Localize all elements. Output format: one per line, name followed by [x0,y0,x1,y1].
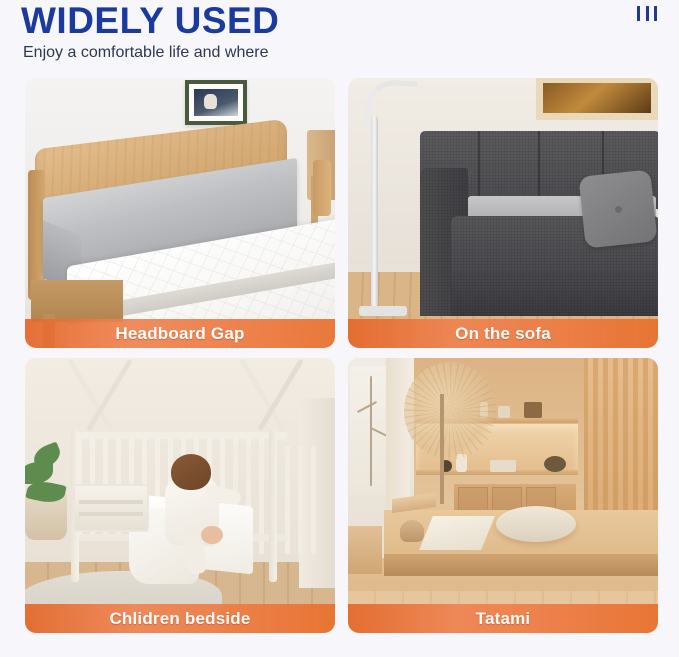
image-gallery-grid: Headboard Gap On the so [25,78,658,633]
card-caption-text: Tatami [476,609,531,629]
sofa-base [451,270,658,316]
shelf-books [524,402,542,418]
scene-living-room-sofa [348,78,658,348]
framed-artwork [543,83,651,113]
page-header: WIDELY USED Enjoy a comfortable life and… [0,0,679,78]
niche-flowers [544,456,566,472]
mural-branch [370,376,372,486]
dried-tree-canopy [404,362,496,460]
mural-branch [357,401,377,413]
gallery-card-headboard-gap[interactable]: Headboard Gap [25,78,335,348]
gallery-card-tatami[interactable]: Tatami [348,358,658,633]
shelf-box [498,406,510,418]
bar-1 [637,6,640,21]
child-head [171,454,211,490]
niche-tray [490,460,516,472]
three-vertical-bars-icon[interactable] [637,6,657,21]
scene-tatami-room [348,358,658,633]
dried-tree-trunk [440,394,444,504]
card-caption-text: On the sofa [455,324,551,344]
throw-pillow [578,169,657,248]
floor-lamp-base [359,306,407,316]
bed-post-right [313,160,331,216]
page-subtitle: Enjoy a comfortable life and where [23,43,268,63]
bar-3 [654,6,657,21]
card-caption-bar: Chlidren bedside [25,604,335,633]
branch-texture [404,362,496,460]
crib-post-right [269,430,277,582]
crib-gate-panel [73,484,149,532]
fabric-texture [451,270,658,316]
gallery-card-on-the-sofa[interactable]: On the sofa [348,78,658,348]
floor-lamp-pole [371,116,378,308]
platform-front-face [384,554,658,576]
scene-nursery-crib [25,358,335,633]
card-caption-bar: Headboard Gap [25,319,335,348]
page-title: WIDELY USED [21,1,279,41]
gallery-card-children-bedside[interactable]: Chlidren bedside [25,358,335,633]
round-floor-cushion [496,506,576,542]
small-stool [400,520,424,542]
child-foot [201,526,223,544]
card-caption-text: Chlidren bedside [109,609,250,629]
bar-2 [646,6,649,21]
low-bench [348,526,382,574]
card-caption-bar: Tatami [348,604,658,633]
card-caption-text: Headboard Gap [115,324,244,344]
framed-artwork [194,89,238,116]
wall-picture-frame [536,78,658,120]
scene-bedroom-headboard [25,78,335,348]
wall-picture-frame [185,80,247,125]
card-caption-bar: On the sofa [348,319,658,348]
